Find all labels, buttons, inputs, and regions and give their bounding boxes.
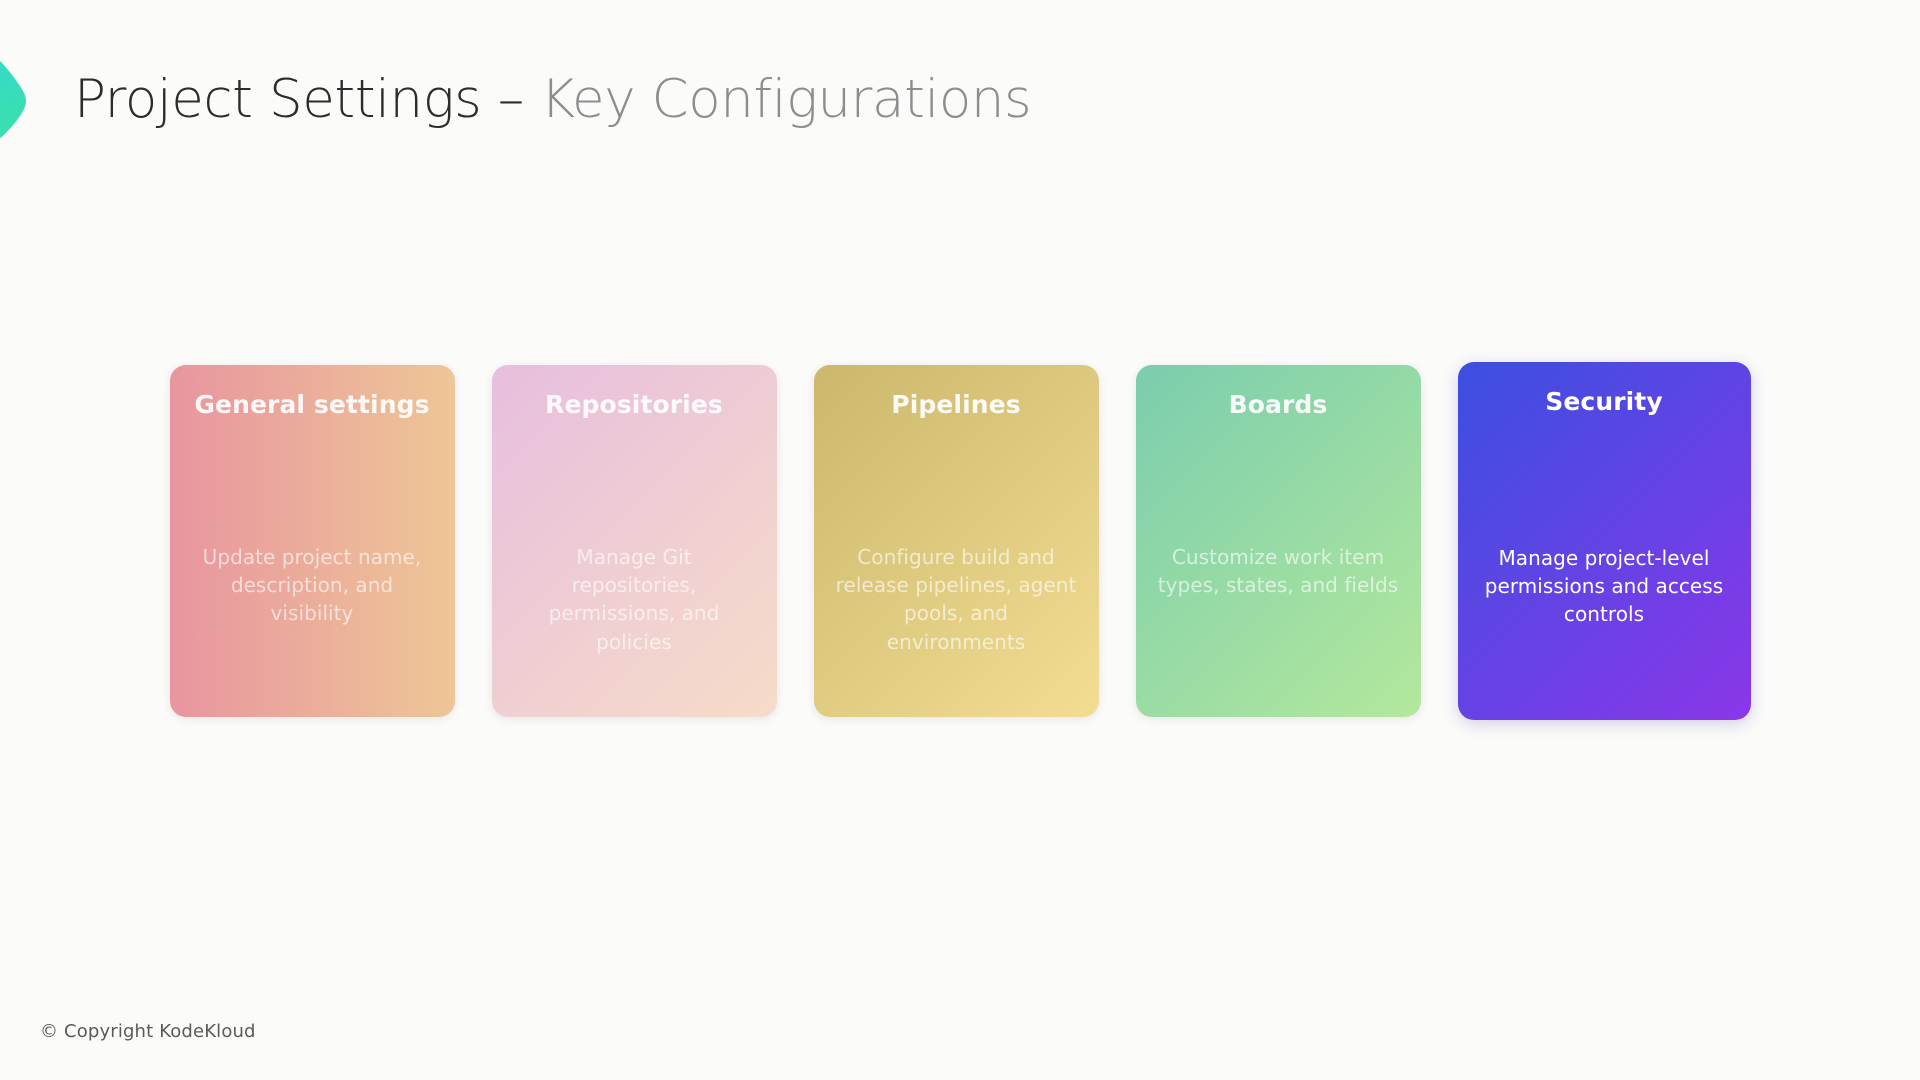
card-general-settings[interactable]: General settings Update project name, de… xyxy=(170,365,455,717)
card-description: Manage Git repositories, permissions, an… xyxy=(512,543,757,657)
card-repositories[interactable]: Repositories Manage Git repositories, pe… xyxy=(492,365,777,717)
card-title: Pipelines xyxy=(832,389,1081,420)
page-title-secondary: Key Configurations xyxy=(540,69,1031,130)
card-security[interactable]: Security Manage project-level permission… xyxy=(1458,362,1751,720)
chevron-right-logo-icon xyxy=(0,18,84,168)
card-boards[interactable]: Boards Customize work item types, states… xyxy=(1136,365,1421,717)
page-title: Project Settings – Key Configurations xyxy=(74,70,1031,129)
card-title: General settings xyxy=(188,389,437,420)
footer-copyright: © Copyright KodeKloud xyxy=(40,1021,256,1042)
card-description: Update project name, description, and vi… xyxy=(190,543,435,628)
page-title-primary: Project Settings – xyxy=(74,69,540,130)
brand-logo xyxy=(0,18,84,168)
card-title: Boards xyxy=(1154,389,1403,420)
settings-card-row: General settings Update project name, de… xyxy=(0,363,1920,718)
slide-header: Project Settings – Key Configurations xyxy=(74,70,1031,129)
card-description: Customize work item types, states, and f… xyxy=(1156,543,1401,600)
card-title: Repositories xyxy=(510,389,759,420)
card-title: Security xyxy=(1476,386,1733,417)
card-pipelines[interactable]: Pipelines Configure build and release pi… xyxy=(814,365,1099,717)
card-description: Manage project-level permissions and acc… xyxy=(1478,544,1731,629)
card-description: Configure build and release pipelines, a… xyxy=(834,543,1079,657)
